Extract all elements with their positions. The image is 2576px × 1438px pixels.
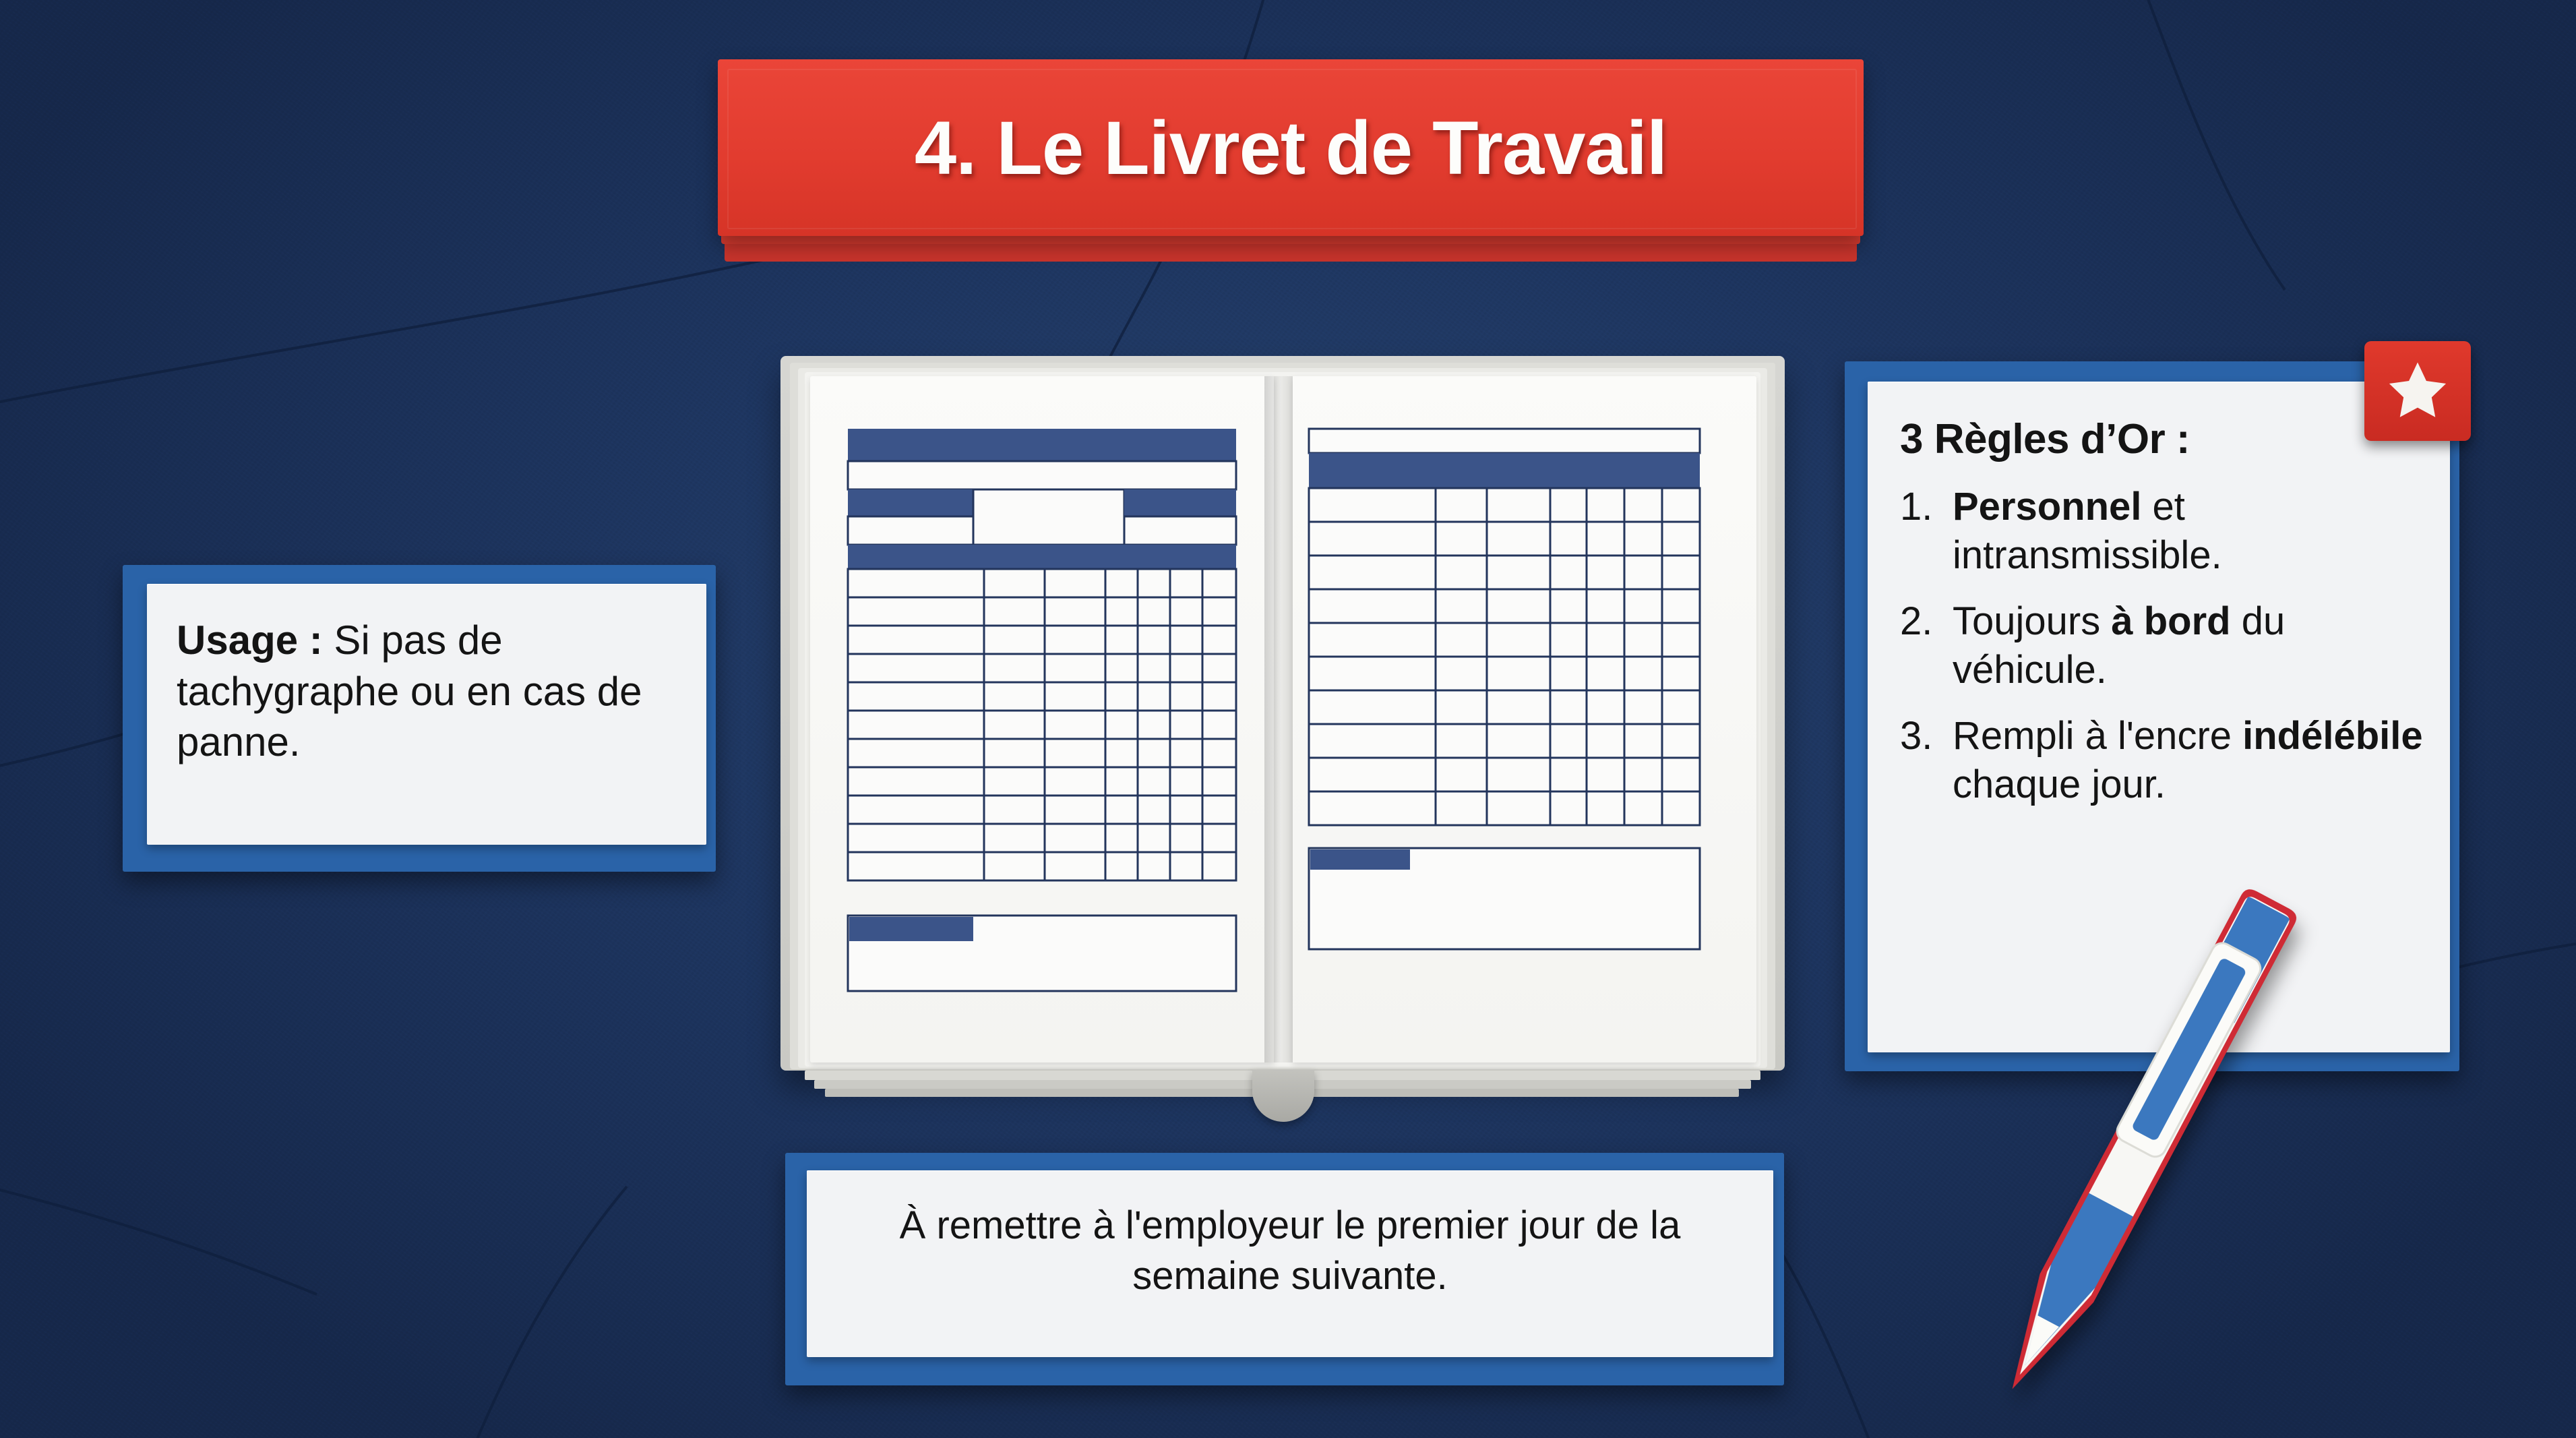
page-title: 4. Le Livret de Travail: [718, 59, 1864, 236]
rule-number-2: 2.: [1900, 597, 1953, 694]
rules-card-title: 3 Règles d’Or :: [1900, 417, 2428, 462]
rule-text-2-bold: à bord: [2111, 599, 2230, 643]
rule-item-3: 3. Rempli à l'encre indélébile chaque jo…: [1900, 712, 2428, 809]
left-page-table: [810, 376, 1274, 1062]
rule-text-3-bold: indélébile: [2242, 714, 2423, 758]
usage-label: Usage :: [177, 618, 323, 663]
rule-text-3-after: chaque jour.: [1953, 762, 2166, 806]
rule-item-1: 1. Personnel et intransmissible.: [1900, 483, 2428, 580]
logbook-illustration: [780, 356, 1785, 1111]
rule-number-1: 1.: [1900, 483, 1953, 580]
caption-card-text: À remettre à l'employeur le premier jour…: [827, 1200, 1753, 1302]
rule-text-2-before: Toujours: [1953, 599, 2111, 643]
usage-card-text: Usage : Si pas de tachygraphe ou en cas …: [177, 615, 679, 768]
usage-card: Usage : Si pas de tachygraphe ou en cas …: [123, 565, 716, 872]
usage-card-face: Usage : Si pas de tachygraphe ou en cas …: [147, 584, 706, 845]
rule-number-3: 3.: [1900, 712, 1953, 809]
title-banner: 4. Le Livret de Travail: [718, 59, 1864, 282]
rule-item-2: 2. Toujours à bord du véhicule.: [1900, 597, 2428, 694]
rule-text-3: Rempli à l'encre indélébile chaque jour.: [1953, 712, 2428, 809]
star-badge: [2364, 341, 2471, 441]
rule-text-1-bold: Personnel: [1953, 485, 2141, 529]
book-page-left: [810, 376, 1274, 1062]
rule-text-1: Personnel et intransmissible.: [1953, 483, 2428, 580]
rule-text-2: Toujours à bord du véhicule.: [1953, 597, 2428, 694]
caption-card-face: À remettre à l'employeur le premier jour…: [807, 1170, 1773, 1357]
right-page-table: [1293, 376, 1756, 1062]
rule-text-3-before: Rempli à l'encre: [1953, 714, 2242, 758]
rules-card-face: 3 Règles d’Or : 1. Personnel et intransm…: [1868, 382, 2450, 1052]
star-icon: [2383, 357, 2453, 425]
rules-card: 3 Règles d’Or : 1. Personnel et intransm…: [1845, 361, 2459, 1071]
book-page-right: [1293, 376, 1756, 1062]
caption-card: À remettre à l'employeur le premier jour…: [785, 1153, 1784, 1385]
